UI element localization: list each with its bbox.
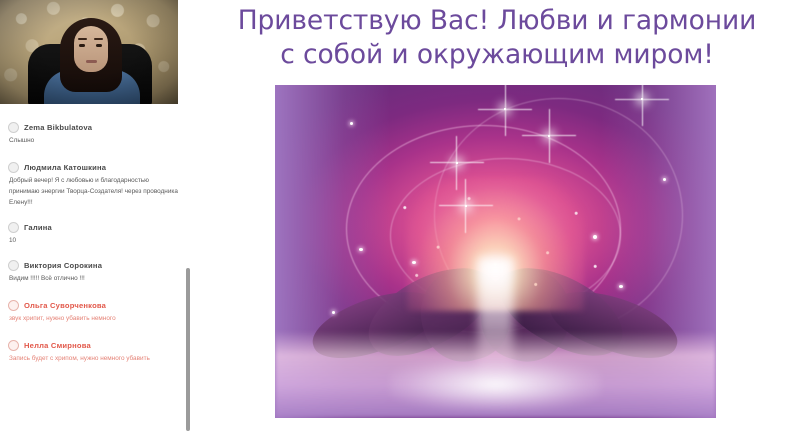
chat-message-header: Виктория Сорокина — [8, 260, 180, 271]
avatar-icon — [8, 260, 19, 271]
artwork-water-glow — [390, 358, 602, 411]
chat-message-list[interactable]: Zema Bikbulatova Слышно Людмила Катошкин… — [0, 112, 186, 431]
chat-message-header: Галина — [8, 222, 180, 233]
chat-message: Виктория Сорокина Видим !!!!! Всё отличн… — [0, 260, 186, 284]
chat-author: Нелла Смирнова — [24, 341, 91, 350]
left-panel: Zema Bikbulatova Слышно Людмила Катошкин… — [0, 0, 192, 431]
avatar-icon — [8, 340, 19, 351]
artwork-spark — [359, 248, 363, 251]
chat-text: 10 — [8, 235, 180, 246]
chat-scrollbar[interactable] — [185, 112, 191, 431]
chat-text: Добрый вечер! Я с любовью и благодарност… — [8, 175, 180, 208]
video-vignette — [0, 0, 178, 104]
chat-message: Галина 10 — [0, 222, 186, 246]
artwork-spark — [593, 235, 597, 239]
artwork-spark — [350, 122, 353, 125]
artwork-starburst — [465, 205, 467, 207]
artwork-starburst — [504, 108, 506, 110]
chat-author: Людмила Катошкина — [24, 163, 106, 172]
chat-text: Запись будет с хрипом, нужно немного уба… — [8, 353, 180, 364]
slide-area: Приветствую Вас! Любви и гармонии с собо… — [192, 0, 800, 431]
chat-message-header: Нелла Смирнова — [8, 340, 180, 351]
webinar-screen: Zema Bikbulatova Слышно Людмила Катошкин… — [0, 0, 800, 431]
chat-author: Виктория Сорокина — [24, 261, 102, 270]
chat-author: Zema Bikbulatova — [24, 123, 92, 132]
chat-message-highlighted: Ольга Суворченкова звук хрипит, нужно уб… — [0, 300, 186, 324]
chat-scrollbar-thumb[interactable] — [186, 268, 190, 431]
slide-title: Приветствую Вас! Любви и гармонии с собо… — [232, 4, 762, 72]
chat-text: Видим !!!!! Всё отлично !!! — [8, 273, 180, 284]
artwork-starburst — [641, 98, 643, 100]
chat-author: Ольга Суворченкова — [24, 301, 106, 310]
lotus-artwork-image — [275, 85, 716, 418]
avatar-icon — [8, 300, 19, 311]
artwork-spark — [619, 285, 623, 288]
chat-message-highlighted: Нелла Смирнова Запись будет с хрипом, ну… — [0, 340, 186, 364]
chat-text: Слышно — [8, 135, 180, 146]
avatar-icon — [8, 162, 19, 173]
chat-text: звук хрипит, нужно убавить немного — [8, 313, 180, 324]
avatar-icon — [8, 222, 19, 233]
chat-message-header: Zema Bikbulatova — [8, 122, 180, 133]
artwork-starburst — [456, 162, 458, 164]
chat-message: Людмила Катошкина Добрый вечер! Я с любо… — [0, 162, 186, 208]
chat-message-header: Людмила Катошкина — [8, 162, 180, 173]
chat-message: Zema Bikbulatova Слышно — [0, 122, 186, 146]
presenter-video-tile[interactable] — [0, 0, 178, 104]
chat-author: Галина — [24, 223, 52, 232]
artwork-starburst — [548, 135, 550, 137]
chat-message-header: Ольга Суворченкова — [8, 300, 180, 311]
avatar-icon — [8, 122, 19, 133]
